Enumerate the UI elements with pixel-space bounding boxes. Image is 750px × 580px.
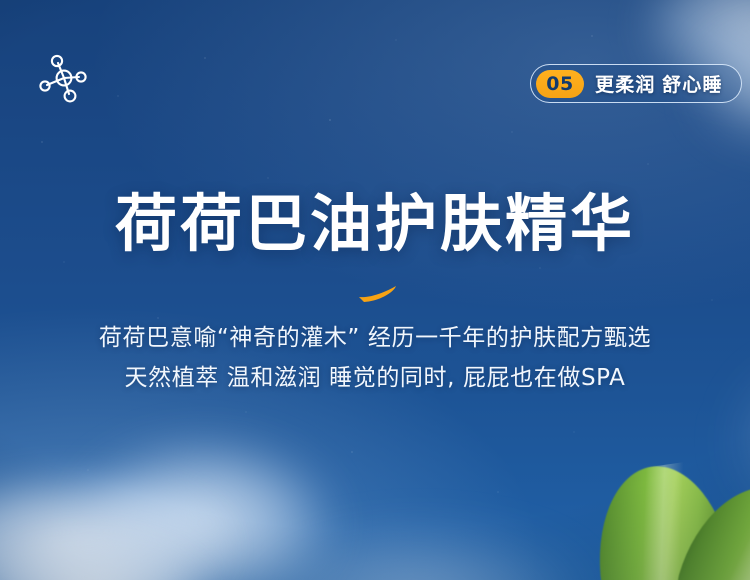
orange-swash-icon xyxy=(358,285,398,303)
cloud-decoration xyxy=(0,452,280,580)
green-leaf xyxy=(668,468,750,580)
badge-label: 更柔润 舒心睡 xyxy=(595,70,723,97)
cloud-decoration xyxy=(0,520,240,580)
molecule-icon xyxy=(36,52,92,108)
page-title: 荷荷巴油护肤精华 xyxy=(0,186,750,262)
badge-number: 05 xyxy=(536,70,584,98)
product-banner: 05 更柔润 舒心睡 荷荷巴油护肤精华 荷荷巴意喻“神奇的灌木” 经历一千年的护… xyxy=(0,0,750,580)
subtitle-line-1: 荷荷巴意喻“神奇的灌木” 经历一千年的护肤配方甄选 xyxy=(0,318,750,358)
cloud-decoration xyxy=(210,520,630,580)
subtitle-line-2: 天然植萃 温和滋润 睡觉的同时, 屁屁也在做SPA xyxy=(0,358,750,398)
subtitle-block: 荷荷巴意喻“神奇的灌木” 经历一千年的护肤配方甄选 天然植萃 温和滋润 睡觉的同… xyxy=(0,318,750,398)
section-badge: 05 更柔润 舒心睡 xyxy=(530,64,742,103)
cloud-decoration xyxy=(40,418,370,580)
headline-block: 荷荷巴油护肤精华 xyxy=(0,186,750,262)
green-leaf xyxy=(586,458,738,580)
